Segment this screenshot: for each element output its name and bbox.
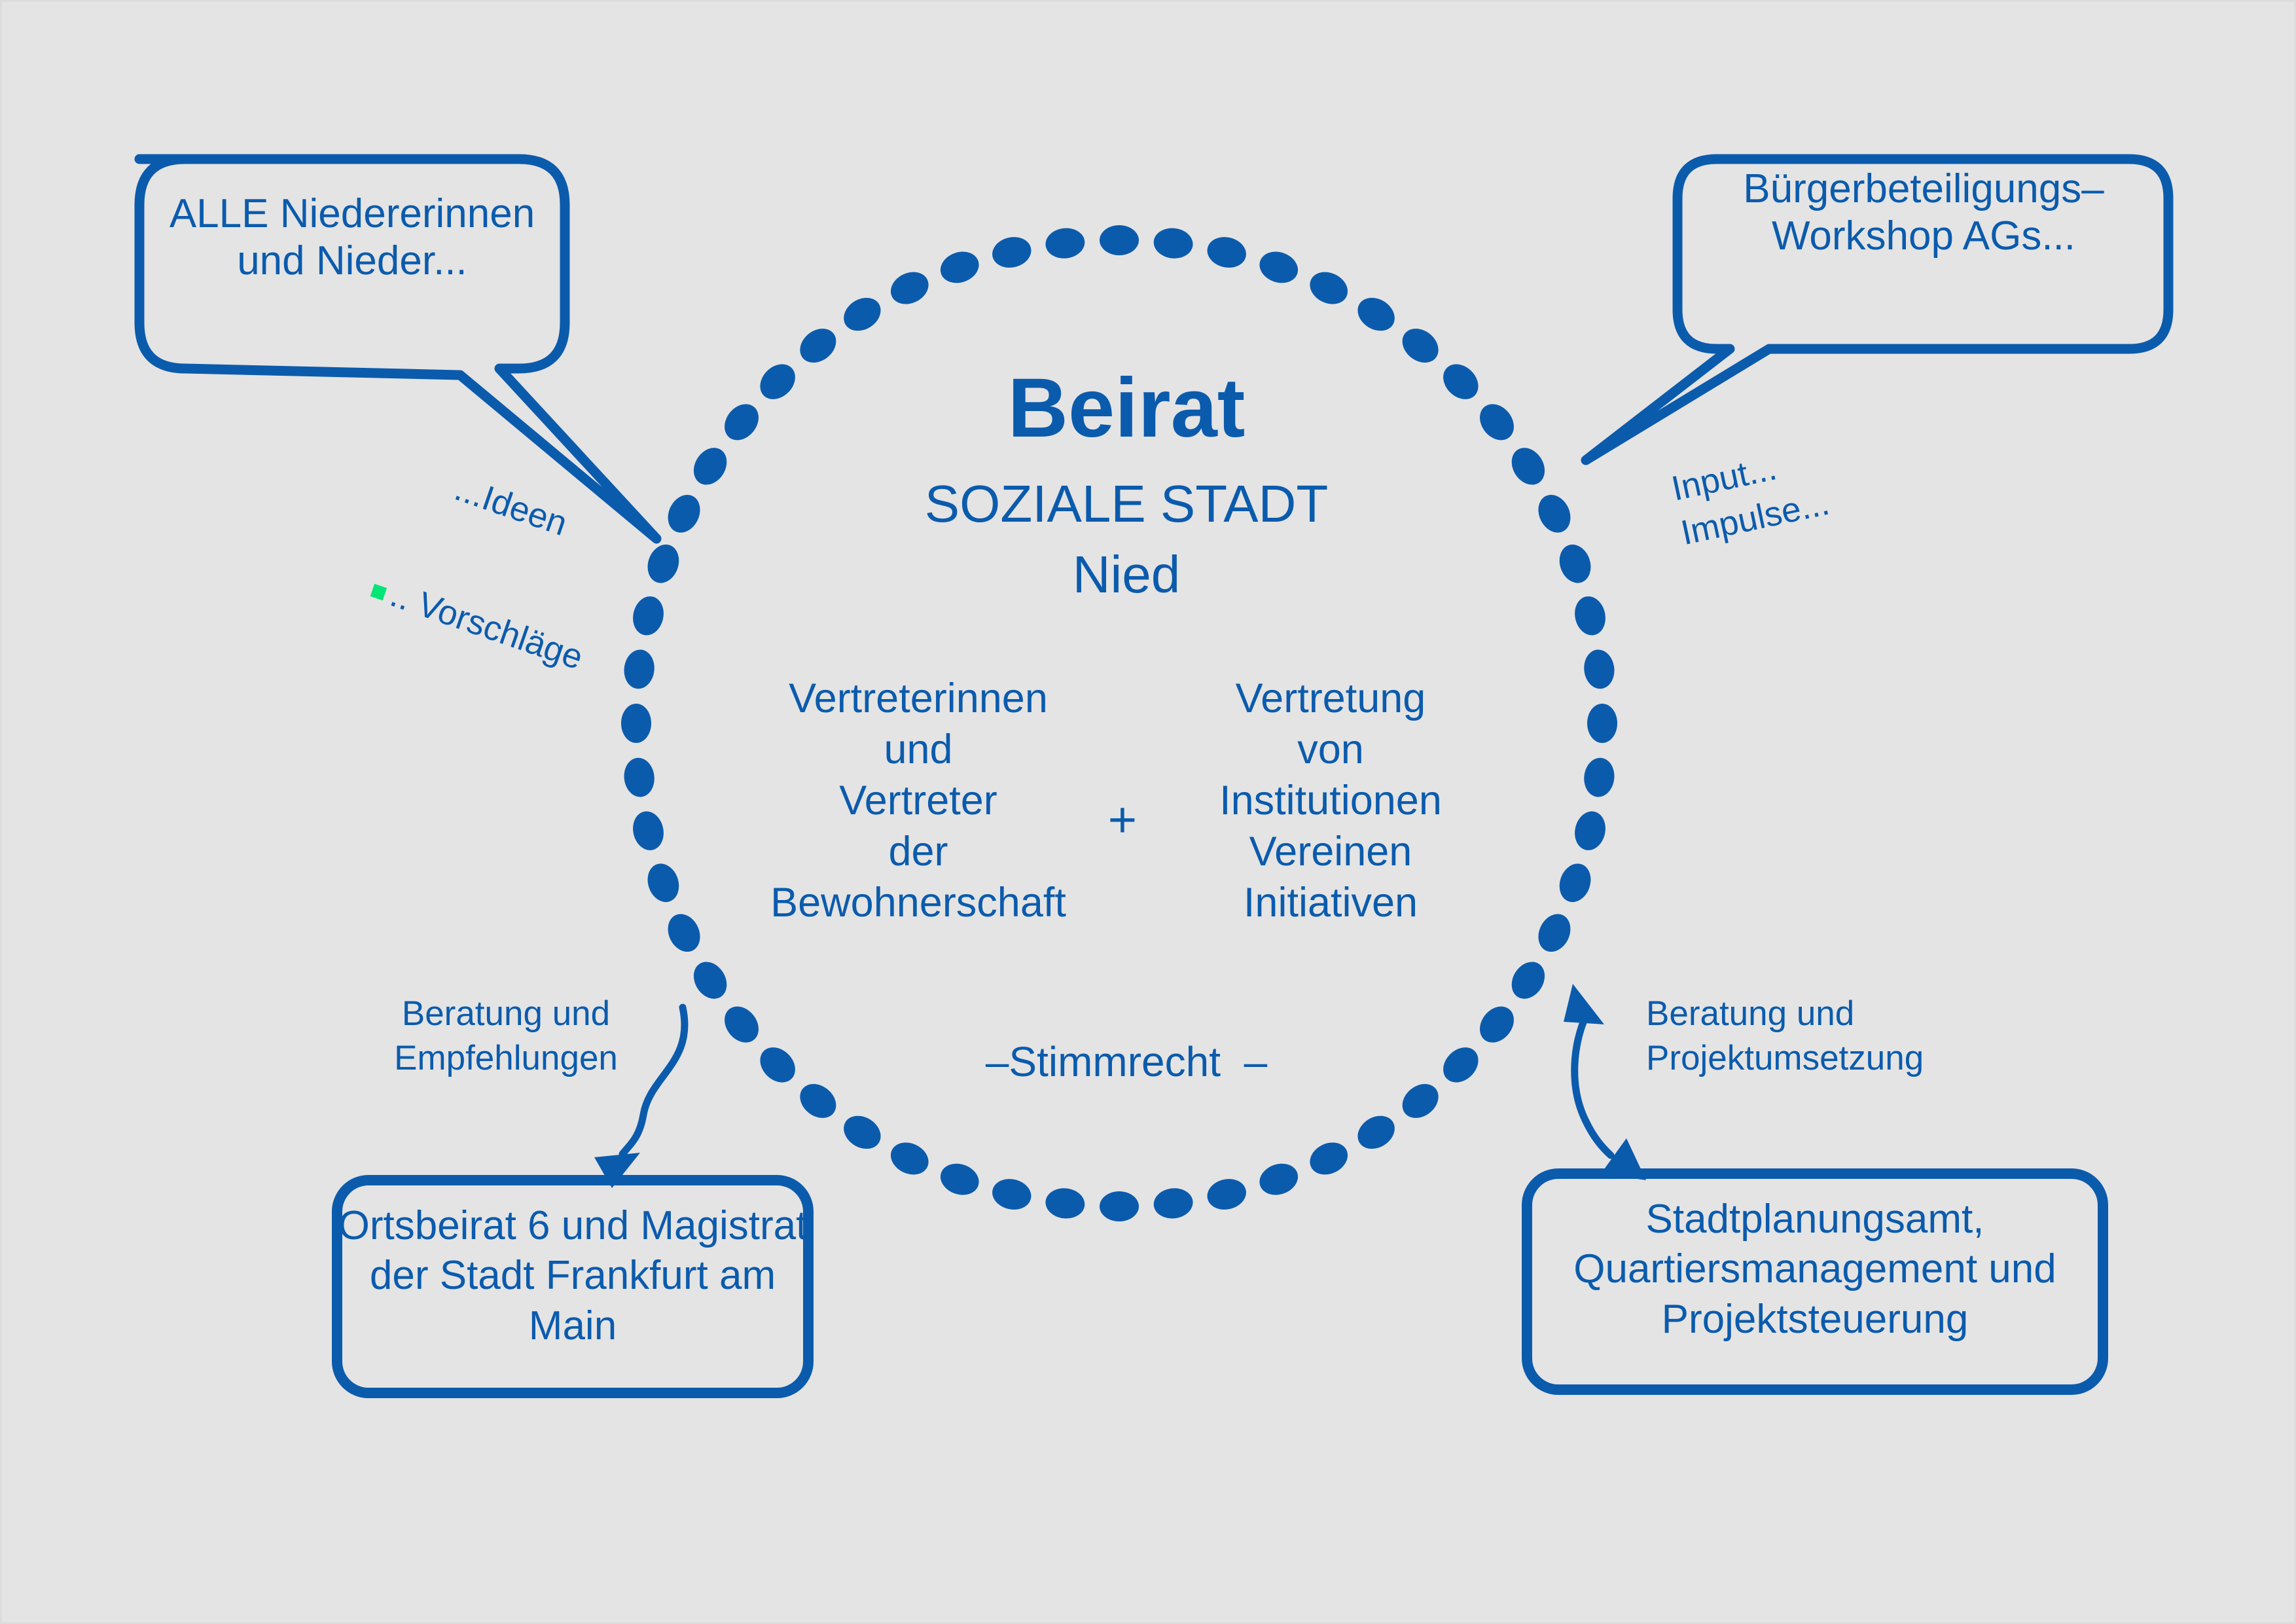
annotation-vorschlaege-prefix: .. <box>386 575 416 618</box>
circle-dot <box>886 1136 934 1180</box>
center-plus-operator: + <box>1108 791 1137 850</box>
box-stadtplanungsamt-text: Stadtplanungsamt, Quartiersmanagement un… <box>1527 1195 2103 1344</box>
circle-dot <box>687 956 734 1005</box>
center-left-column: Vertreterinnen und Vertreter der Bewohne… <box>755 673 1082 929</box>
circle-dot <box>989 1175 1034 1213</box>
circle-dot <box>1100 225 1139 255</box>
annotation-beratung-empfehlungen: Beratung und Empfehlungen <box>368 992 643 1081</box>
annotation-vorschlaege-label: Vorschläge <box>413 585 588 677</box>
circle-dot <box>1255 1159 1302 1200</box>
circle-dot <box>643 540 684 587</box>
circle-dot <box>662 490 706 538</box>
center-location: Nied <box>1073 544 1181 605</box>
circle-dot <box>989 233 1034 271</box>
circle-dot <box>1204 233 1249 271</box>
green-square-marker <box>370 584 387 600</box>
circle-dot <box>1587 704 1617 743</box>
circle-dot <box>622 648 656 691</box>
arrow-beratung-projektumsetzung <box>1564 984 1646 1180</box>
speech-bubble-participation-text: Bürgerbeteiligungs– Workshop AGs... <box>1679 166 2168 260</box>
diagram-canvas: ALLE Niedererinnen und Nieder... Bürgerb… <box>0 0 2296 1624</box>
circle-dot <box>1436 1040 1485 1089</box>
circle-dot <box>1436 357 1485 406</box>
circle-dot <box>1044 1186 1086 1220</box>
circle-dot <box>1100 1191 1139 1221</box>
circle-dot <box>936 1159 983 1200</box>
circle-dot <box>1152 1186 1194 1220</box>
circle-dot <box>1554 859 1596 907</box>
circle-dot <box>643 859 684 907</box>
circle-dot <box>1204 1175 1249 1213</box>
circle-dot <box>838 1109 887 1155</box>
circle-dot <box>1505 956 1551 1005</box>
circle-dot <box>622 756 656 799</box>
circle-dot <box>1352 291 1401 338</box>
circle-dot <box>629 593 667 638</box>
circle-dot <box>629 808 667 854</box>
circle-dot <box>936 247 983 288</box>
circle-dot <box>1152 226 1194 260</box>
circle-dot <box>687 442 734 491</box>
circle-dot <box>1571 808 1609 854</box>
circle-dot <box>717 397 765 447</box>
circle-dot <box>1395 321 1445 369</box>
circle-dot <box>1044 226 1086 260</box>
speech-bubble-citizens-text: ALLE Niedererinnen und Nieder... <box>139 190 565 285</box>
circle-dot <box>793 321 843 369</box>
circle-dot <box>886 266 934 310</box>
circle-dot <box>1582 648 1616 691</box>
circle-dot <box>793 1077 843 1125</box>
circle-dot <box>1505 442 1551 491</box>
circle-dot <box>1304 1136 1353 1180</box>
circle-dot <box>1473 397 1520 447</box>
circle-dot <box>1532 909 1576 957</box>
center-subtitle: SOZIALE STADT <box>925 473 1328 535</box>
center-footer-stimmrecht: –Stimmrecht – <box>986 1038 1267 1087</box>
circle-dot <box>1554 540 1596 587</box>
circle-dot <box>1571 593 1609 638</box>
circle-dot <box>621 704 651 743</box>
circle-dot <box>1473 1000 1520 1049</box>
circle-dot <box>662 909 706 957</box>
center-right-column: Vertretung von Institutionen Vereinen In… <box>1174 673 1488 929</box>
circle-dot <box>1352 1109 1401 1155</box>
annotation-beratung-projektumsetzung: Beratung und Projektumsetzung <box>1646 992 1960 1081</box>
box-ortsbeirat-text: Ortsbeirat 6 und Magistrat der Stadt Fra… <box>337 1201 808 1351</box>
circle-dot <box>717 1000 765 1049</box>
circle-dot <box>1395 1077 1445 1125</box>
center-title: Beirat <box>1008 359 1246 458</box>
circle-dot <box>1582 756 1616 799</box>
circle-dot <box>753 357 802 406</box>
circle-dot <box>1532 490 1576 538</box>
circle-dot <box>1304 266 1353 310</box>
circle-dot <box>753 1040 802 1089</box>
circle-dot <box>838 291 887 338</box>
circle-dot <box>1255 247 1302 288</box>
